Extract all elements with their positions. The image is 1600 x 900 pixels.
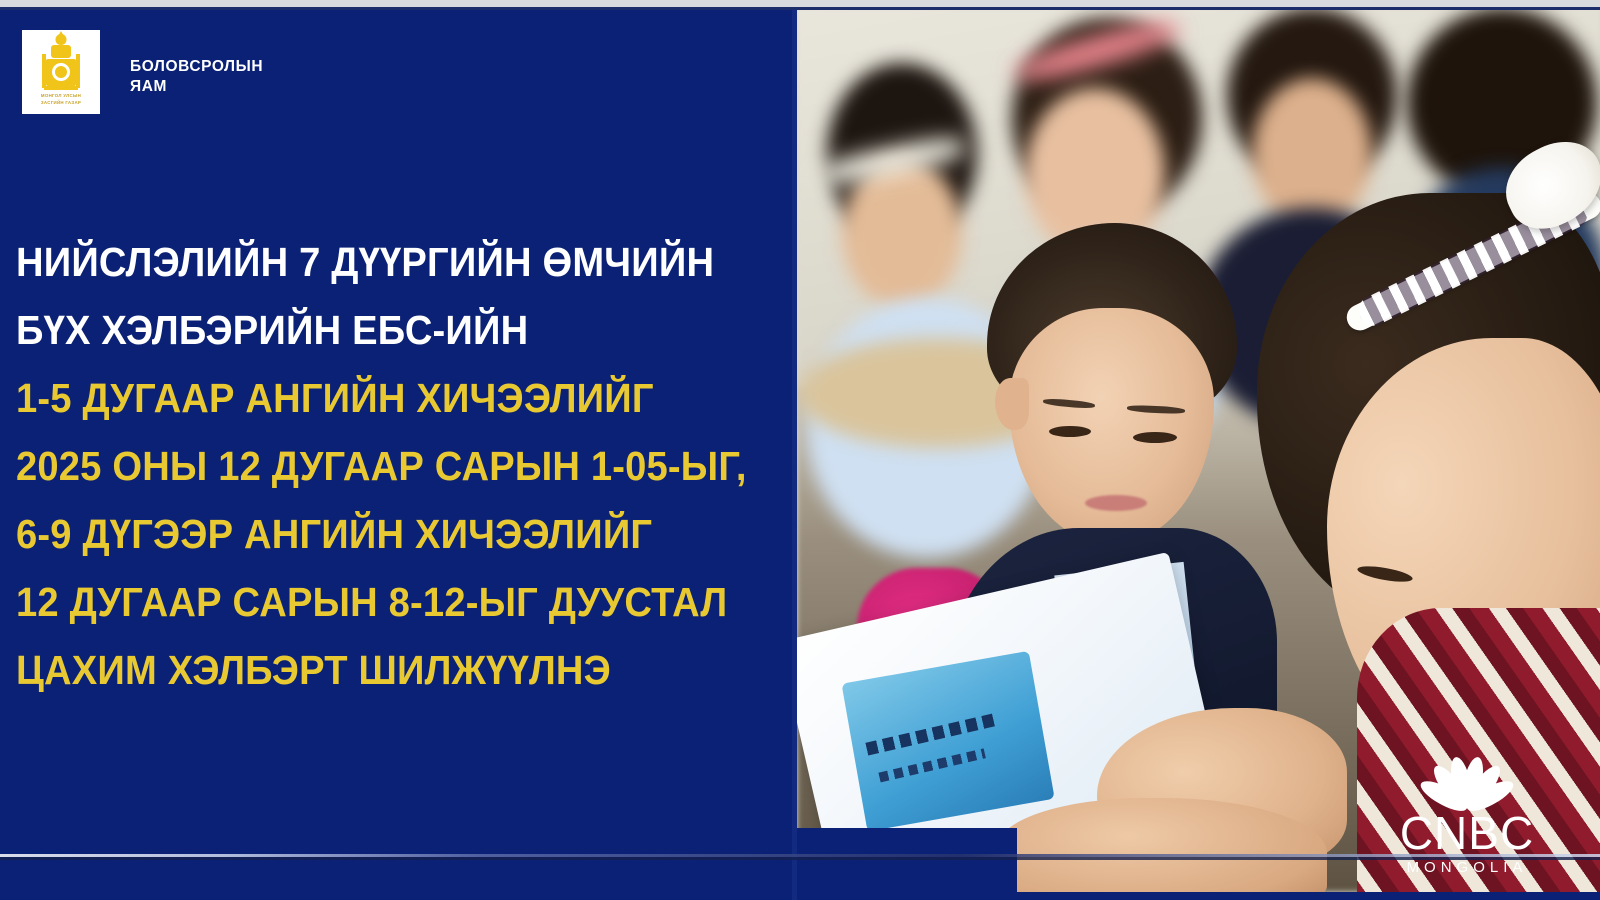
headline-line-6: 12 ДУГААР САРЫН 8-12-ЫГ ДУУСТАЛ — [16, 568, 732, 636]
emblem-body — [46, 59, 76, 86]
emblem-base — [44, 86, 78, 90]
ministry-name-line1: БОЛОВСРОЛЫН — [130, 57, 263, 77]
cnbc-peacock-icon — [1407, 748, 1527, 808]
top-bezel-strip — [0, 0, 1600, 7]
broadcast-graphic: МОНГОЛ УЛСЫН ЗАСГИЙН ГАЗАР БОЛОВСРОЛЫН Я… — [0, 0, 1600, 900]
lower-divider-shadow — [0, 857, 1600, 860]
emblem-caption-line2: ЗАСГИЙН ГАЗАР — [41, 99, 81, 106]
brand-header: МОНГОЛ УЛСЫН ЗАСГИЙН ГАЗАР БОЛОВСРОЛЫН Я… — [22, 30, 263, 114]
ministry-name-line2: ЯАМ — [130, 77, 263, 97]
boy-eye-right — [1133, 432, 1177, 443]
headline-line-5: 6-9 ДҮГЭЭР АНГИЙН ХИЧЭЭЛИЙГ — [16, 500, 732, 568]
photo-bottom-wedge — [797, 828, 1017, 892]
emblem-caption-line1: МОНГОЛ УЛСЫН — [41, 92, 81, 99]
top-bezel-shadow — [0, 7, 1600, 10]
cnbc-region-label: MONGOLIA — [1407, 858, 1528, 878]
headline-line-4: 2025 ОНЫ 12 ДУГААР САРЫН 1-05-ЫГ, — [16, 432, 732, 500]
boy-mouth — [1085, 495, 1147, 511]
headline-block: НИЙСЛЭЛИЙН 7 ДҮҮРГИЙН ӨМЧИЙН БҮХ ХЭЛБЭРИ… — [16, 228, 786, 704]
cnbc-watermark: CNBC MONGOLIA — [1372, 748, 1562, 878]
emblem-cap — [56, 34, 67, 45]
headline-line-2: БҮХ ХЭЛБЭРИЙН ЕБС-ИЙН — [16, 296, 732, 364]
ministry-name: БОЛОВСРОЛЫН ЯАМ — [130, 57, 263, 97]
boy-eye-left — [1049, 426, 1091, 437]
cnbc-wordmark: CNBC — [1400, 810, 1534, 856]
bg-student-face-3 — [1252, 78, 1372, 228]
headline-line-1: НИЙСЛЭЛИЙН 7 ДҮҮРГИЙН ӨМЧИЙН — [16, 228, 732, 296]
emblem-pillar-right — [76, 54, 80, 88]
emblem-caption: МОНГОЛ УЛСЫН ЗАСГИЙН ГАЗАР — [41, 92, 81, 106]
headline-line-3: 1-5 ДУГААР АНГИЙН ХИЧЭЭЛИЙГ — [16, 364, 732, 432]
boy-ear — [995, 378, 1029, 430]
soyombo-emblem — [41, 34, 81, 90]
government-emblem-icon: МОНГОЛ УЛСЫН ЗАСГИЙН ГАЗАР — [22, 30, 100, 114]
emblem-middle — [51, 45, 71, 58]
headline-line-7: ЦАХИМ ХЭЛБЭРТ ШИЛЖҮҮЛНЭ — [16, 636, 732, 704]
panel-edge — [792, 0, 797, 900]
